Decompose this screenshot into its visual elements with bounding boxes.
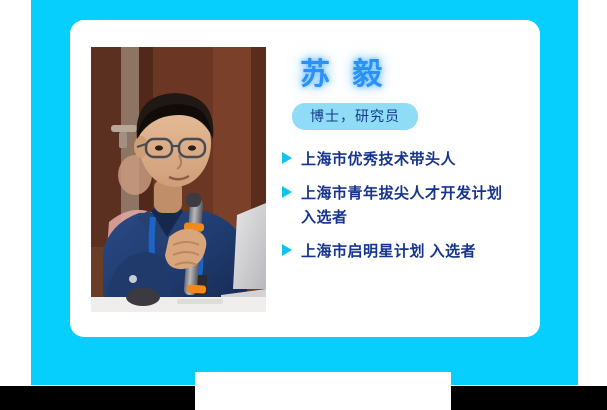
honor-line-primary: 上海市优秀技术带头人 — [301, 148, 456, 171]
profile-card: 苏 毅 博士，研究员 上海市优秀技术带头人 上海市青年拔尖人才开发计划 入选者 — [70, 20, 540, 337]
portrait-photo — [91, 47, 266, 312]
honor-line-primary: 上海市启明星计划 入选者 — [301, 240, 476, 263]
honor-text: 上海市启明星计划 入选者 — [301, 240, 476, 263]
triangle-bullet-icon — [282, 152, 292, 164]
list-item: 上海市优秀技术带头人 — [282, 148, 522, 171]
title-badge: 博士，研究员 — [292, 103, 418, 130]
list-item: 上海市启明星计划 入选者 — [282, 240, 522, 263]
person-name: 苏 毅 — [300, 60, 522, 90]
honors-list: 上海市优秀技术带头人 上海市青年拔尖人才开发计划 入选者 上海市启明星计划 入选… — [282, 148, 522, 263]
slide-canvas: 苏 毅 博士，研究员 上海市优秀技术带头人 上海市青年拔尖人才开发计划 入选者 — [0, 0, 607, 410]
triangle-bullet-icon — [282, 244, 292, 256]
honor-text: 上海市优秀技术带头人 — [301, 148, 456, 171]
footer-white-notch — [195, 372, 451, 410]
honor-line-primary: 上海市青年拔尖人才开发计划 — [301, 182, 503, 205]
profile-info-column: 苏 毅 博士，研究员 上海市优秀技术带头人 上海市青年拔尖人才开发计划 入选者 — [282, 52, 522, 312]
honor-text: 上海市青年拔尖人才开发计划 入选者 — [301, 182, 503, 229]
honor-line-secondary: 入选者 — [301, 206, 503, 229]
list-item: 上海市青年拔尖人才开发计划 入选者 — [282, 182, 522, 229]
triangle-bullet-icon — [282, 186, 292, 198]
portrait-photo-artwork — [91, 47, 266, 312]
